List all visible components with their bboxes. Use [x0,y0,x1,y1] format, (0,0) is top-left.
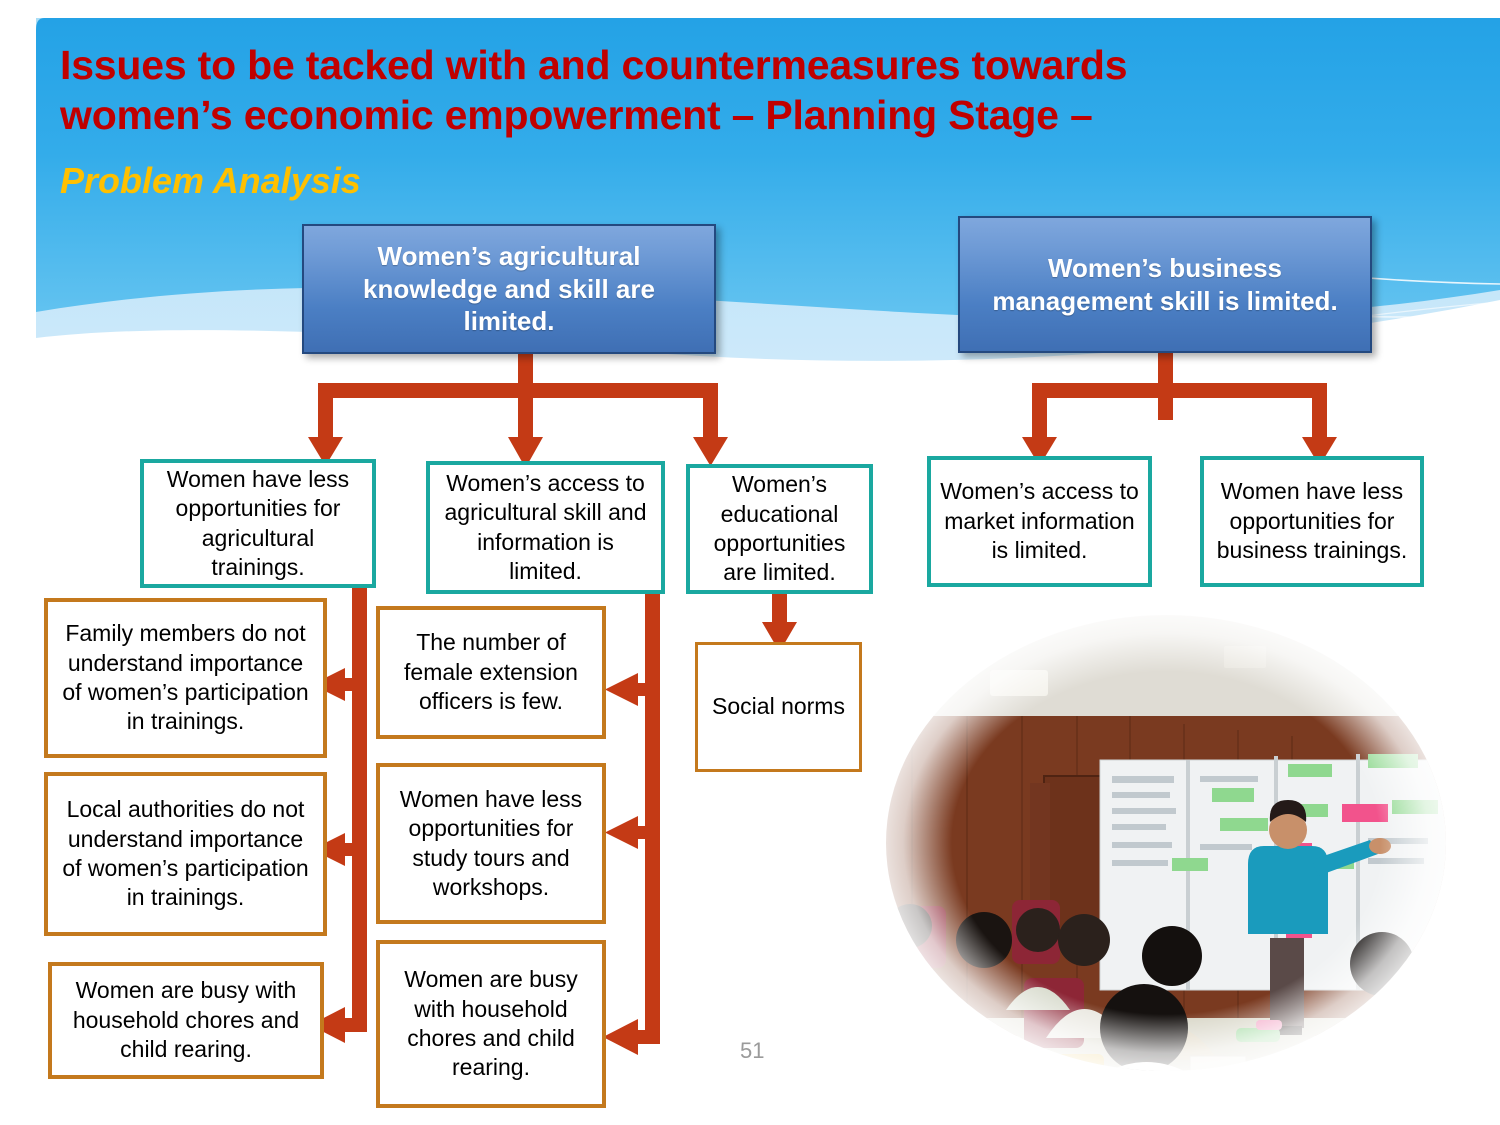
cause-box-label: Family members do not understand importa… [56,619,315,737]
page-number: 51 [740,1038,764,1064]
connector-stem-col3 [772,592,787,630]
connector-tick-c2-3 [625,1030,653,1044]
mid-box-label: Women have less opportunities for busine… [1212,477,1412,565]
arrowhead-col2-1 [605,673,638,706]
cause-box-family-members[interactable]: Family members do not understand importa… [44,598,327,758]
cause-box-label: Women are busy with household chores and… [60,976,312,1064]
cause-box-label: The number of female extension officers … [388,628,594,716]
top-box-label: Women’s business management skill is lim… [970,252,1360,317]
top-box-label: Women’s agricultural knowledge and skill… [314,240,704,338]
workshop-photo [872,608,1460,1078]
page-subtitle: Problem Analysis [60,160,361,202]
connector-tick-c1-2 [332,843,360,856]
mid-box-label: Women’s access to agricultural skill and… [438,469,653,587]
top-box-agri-knowledge[interactable]: Women’s agricultural knowledge and skill… [302,224,716,354]
connector-tick-c2-2 [625,826,653,839]
mid-box-less-business-trainings[interactable]: Women have less opportunities for busine… [1200,456,1424,587]
cause-box-female-extension-officers[interactable]: The number of female extension officers … [376,606,606,739]
arrowhead-left-3 [693,437,728,466]
cause-box-label: Local authorities do not understand impo… [56,795,315,913]
mid-box-less-agri-trainings[interactable]: Women have less opportunities for agricu… [140,459,376,588]
connector-tick-c1-1 [332,678,360,691]
page-title: Issues to be tacked with and countermeas… [60,40,1300,140]
cause-box-study-tours[interactable]: Women have less opportunities for study … [376,763,606,924]
cause-box-label: Women have less opportunities for study … [388,785,594,903]
cause-box-busy-household-middle[interactable]: Women are busy with household chores and… [376,940,606,1108]
mid-box-access-market-info[interactable]: Women’s access to market information is … [927,456,1152,587]
mid-box-educational-opportunities[interactable]: Women’s educational opportunities are li… [686,464,873,594]
arrowhead-col2-2 [605,816,638,849]
cause-box-label: Women are busy with household chores and… [388,965,594,1083]
arrowhead-col2-3 [603,1019,638,1055]
mid-box-label: Women’s educational opportunities are li… [698,470,861,588]
mid-box-label: Women have less opportunities for agricu… [152,465,364,583]
connector-tick-c1-3 [332,1018,360,1032]
mid-box-access-agri-skill[interactable]: Women’s access to agricultural skill and… [426,461,665,594]
connector-spine-col2 [645,592,660,1044]
top-box-business-mgmt[interactable]: Women’s business management skill is lim… [958,216,1372,353]
cause-box-local-authorities[interactable]: Local authorities do not understand impo… [44,772,327,936]
connector-spine-col1 [352,588,367,1032]
cause-box-busy-household-left[interactable]: Women are busy with household chores and… [48,962,324,1079]
mid-box-label: Women’s access to market information is … [939,477,1140,565]
slide: Issues to be tacked with and countermeas… [0,0,1500,1125]
connector-tick-c2-1 [625,683,653,696]
cause-box-label: Social norms [712,692,845,721]
cause-box-social-norms[interactable]: Social norms [695,642,862,772]
